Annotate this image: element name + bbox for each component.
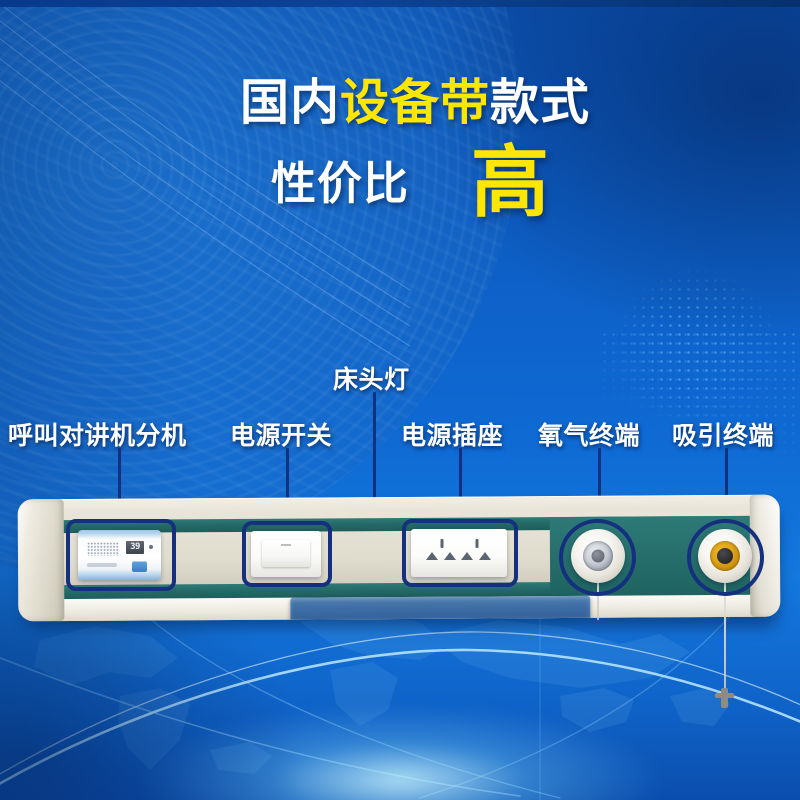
socket-pin-vertical: [476, 539, 479, 548]
oxygen-terminal-port: [592, 550, 605, 563]
panel-end-cap-left: [18, 499, 65, 621]
suction-terminal-port: [717, 548, 733, 564]
background-vignette: [0, 0, 800, 800]
product-banner: 国内设备带款式 性价比 高 呼叫对讲机分机 电源开关 床头灯 电源插座 氧气终端…: [0, 0, 800, 800]
power-socket-device[interactable]: [411, 529, 507, 577]
switch-indicator-mark: [281, 544, 291, 546]
socket-pin-right: [479, 552, 491, 560]
suction-terminal-cord: [724, 582, 726, 690]
socket-right[interactable]: [460, 539, 494, 567]
cord-cross-hook: [721, 688, 728, 708]
nurse-call-intercom-device[interactable]: 39: [78, 530, 161, 580]
suction-terminal-device[interactable]: [698, 529, 752, 583]
bed-lamp-diffuser[interactable]: [290, 596, 590, 621]
callout-label-suction-terminal: 吸引终端: [672, 416, 774, 452]
intercom-display: 39: [126, 541, 144, 554]
socket-pin-left: [426, 552, 438, 560]
socket-left[interactable]: [425, 539, 459, 567]
panel-end-cap-right: [750, 495, 781, 617]
intercom-slot: [87, 563, 117, 567]
oxygen-terminal-device[interactable]: [571, 529, 625, 583]
callout-label-oxygen-terminal: 氧气终端: [538, 416, 640, 452]
callout-label-nurse-call-intercom: 呼叫对讲机分机: [8, 416, 187, 452]
power-switch-device[interactable]: [251, 531, 321, 577]
callout-label-power-switch: 电源开关: [230, 416, 332, 452]
callout-label-power-socket: 电源插座: [401, 416, 503, 452]
intercom-call-button[interactable]: [132, 561, 147, 572]
socket-pin-vertical: [441, 539, 444, 548]
switch-rocker[interactable]: [262, 540, 310, 567]
socket-pin-left: [461, 552, 473, 560]
socket-pin-right: [444, 552, 456, 560]
oxygen-terminal-cord: [597, 582, 599, 620]
top-edge-strip: [0, 0, 800, 7]
callout-label-bed-lamp: 床头灯: [333, 360, 410, 396]
speaker-grille-icon: [87, 542, 119, 556]
status-led-indicator: [149, 545, 153, 549]
